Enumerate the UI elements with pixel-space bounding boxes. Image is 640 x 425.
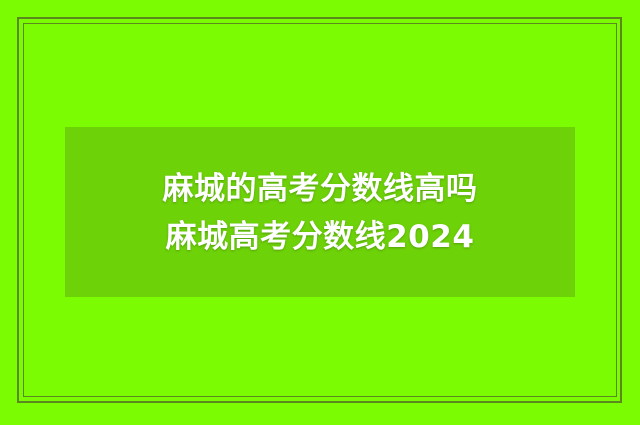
headline-backdrop-plate — [65, 127, 575, 297]
image-banner: 麻城的高考分数线高吗 麻城高考分数线2024 — [0, 0, 640, 425]
